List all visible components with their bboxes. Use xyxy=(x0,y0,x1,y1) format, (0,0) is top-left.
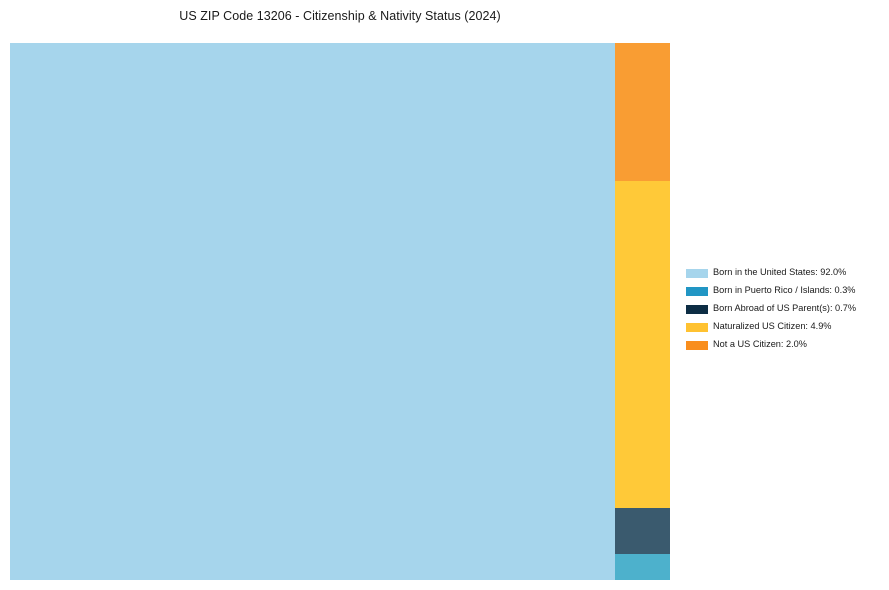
chart-title: US ZIP Code 13206 - Citizenship & Nativi… xyxy=(0,9,680,23)
legend-swatch-born-abroad-of-us-parents xyxy=(686,305,708,314)
treemap-tile-naturalized-us-citizen[interactable] xyxy=(615,181,670,508)
legend-label-born-in-puerto-rico-islands: Born in Puerto Rico / Islands: 0.3% xyxy=(713,286,855,295)
legend-item-born-abroad-of-us-parents[interactable]: Born Abroad of US Parent(s): 0.7% xyxy=(686,300,882,318)
chart-figure: US ZIP Code 13206 - Citizenship & Nativi… xyxy=(0,0,889,590)
treemap-tile-born-abroad-of-us-parents[interactable] xyxy=(615,508,670,554)
legend-item-not-a-us-citizen[interactable]: Not a US Citizen: 2.0% xyxy=(686,336,882,354)
treemap-tile-born-in-the-united-states[interactable] xyxy=(10,43,615,580)
legend-swatch-naturalized-us-citizen xyxy=(686,323,708,332)
legend-swatch-not-a-us-citizen xyxy=(686,341,708,350)
legend-label-naturalized-us-citizen: Naturalized US Citizen: 4.9% xyxy=(713,322,831,331)
legend-swatch-born-in-puerto-rico-islands xyxy=(686,287,708,296)
legend-item-born-in-the-united-states[interactable]: Born in the United States: 92.0% xyxy=(686,264,882,282)
chart-legend: Born in the United States: 92.0%Born in … xyxy=(686,264,882,354)
treemap-plot-area xyxy=(10,43,670,580)
legend-label-born-in-the-united-states: Born in the United States: 92.0% xyxy=(713,268,846,277)
legend-item-naturalized-us-citizen[interactable]: Naturalized US Citizen: 4.9% xyxy=(686,318,882,336)
treemap-tile-not-a-us-citizen[interactable] xyxy=(615,43,670,181)
legend-item-born-in-puerto-rico-islands[interactable]: Born in Puerto Rico / Islands: 0.3% xyxy=(686,282,882,300)
legend-swatch-born-in-the-united-states xyxy=(686,269,708,278)
treemap-tile-born-in-puerto-rico-islands[interactable] xyxy=(615,554,670,580)
legend-label-born-abroad-of-us-parents: Born Abroad of US Parent(s): 0.7% xyxy=(713,304,856,313)
legend-label-not-a-us-citizen: Not a US Citizen: 2.0% xyxy=(713,340,807,349)
